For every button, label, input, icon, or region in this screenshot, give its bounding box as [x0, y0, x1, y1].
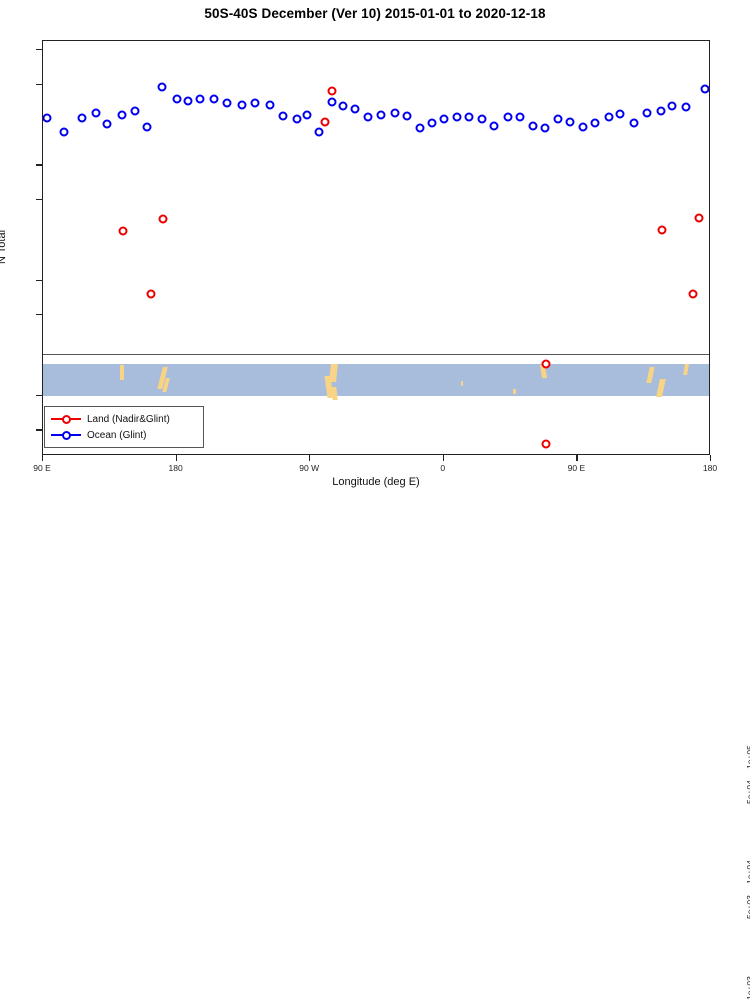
y-tick-label: 5e+01	[745, 429, 750, 1000]
data-point-ocean	[629, 118, 638, 127]
data-point-ocean	[251, 99, 260, 108]
y-tick-mark	[36, 395, 42, 396]
data-point-ocean	[579, 123, 588, 132]
data-point-ocean	[478, 115, 487, 124]
y-tick-mark	[36, 280, 42, 281]
data-point-ocean	[439, 115, 448, 124]
map-landmass	[461, 381, 463, 385]
data-point-ocean	[117, 110, 126, 119]
data-point-ocean	[350, 104, 359, 113]
data-point-ocean	[528, 121, 537, 130]
y-tick-mark	[36, 164, 42, 165]
data-point-land	[321, 117, 330, 126]
data-point-ocean	[92, 108, 101, 117]
x-tick-mark	[576, 455, 577, 461]
data-point-ocean	[390, 108, 399, 117]
data-point-ocean	[102, 119, 111, 128]
data-point-ocean	[681, 103, 690, 112]
data-point-land	[542, 359, 551, 368]
data-point-ocean	[565, 117, 574, 126]
data-point-ocean	[157, 82, 166, 91]
data-point-ocean	[591, 118, 600, 127]
data-point-ocean	[604, 112, 613, 121]
data-point-ocean	[184, 96, 193, 105]
data-point-ocean	[209, 95, 218, 104]
data-point-ocean	[279, 111, 288, 120]
data-point-ocean	[427, 118, 436, 127]
legend-swatch-land	[51, 413, 81, 425]
data-point-ocean	[701, 84, 709, 93]
data-point-ocean	[292, 115, 301, 124]
x-tick-label: 90 W	[299, 463, 319, 473]
x-tick-label: 180	[703, 463, 717, 473]
data-point-ocean	[266, 100, 275, 109]
chart-canvas: 50S-40S December (Ver 10) 2015-01-01 to …	[0, 0, 750, 500]
x-tick-label: 90 E	[568, 463, 586, 473]
data-point-ocean	[616, 109, 625, 118]
data-point-ocean	[303, 110, 312, 119]
data-point-ocean	[328, 97, 337, 106]
data-point-ocean	[43, 114, 52, 123]
data-point-ocean	[237, 100, 246, 109]
x-tick-mark	[42, 455, 43, 461]
data-point-ocean	[142, 123, 151, 132]
data-point-ocean	[416, 124, 425, 133]
data-point-ocean	[515, 112, 524, 121]
data-point-ocean	[453, 112, 462, 121]
map-landmass	[513, 389, 516, 395]
x-tick-mark	[176, 455, 177, 461]
chart-title: 50S-40S December (Ver 10) 2015-01-01 to …	[0, 6, 750, 21]
x-tick-label: 0	[440, 463, 445, 473]
legend-item-land: Land (Nadir&Glint)	[51, 411, 197, 427]
data-point-land	[119, 226, 128, 235]
x-tick-mark	[309, 455, 310, 461]
map-landmass	[331, 387, 337, 400]
legend-swatch-ocean	[51, 429, 81, 441]
data-point-ocean	[338, 102, 347, 111]
data-point-land	[658, 225, 667, 234]
data-point-land	[689, 289, 698, 298]
y-tick-mark	[36, 199, 42, 200]
data-point-ocean	[131, 107, 140, 116]
x-tick-label: 180	[169, 463, 183, 473]
legend-item-ocean: Ocean (Glint)	[51, 427, 197, 443]
y-axis-title: N Total	[0, 230, 8, 264]
map-inset-separator	[43, 354, 709, 356]
y-tick-mark	[36, 84, 42, 85]
data-point-ocean	[196, 95, 205, 104]
data-point-ocean	[643, 108, 652, 117]
legend-label-ocean: Ocean (Glint)	[87, 430, 146, 441]
legend-marker	[62, 415, 71, 424]
data-point-ocean	[540, 124, 549, 133]
data-point-ocean	[402, 111, 411, 120]
data-point-land	[159, 214, 168, 223]
data-point-ocean	[223, 99, 232, 108]
y-tick-mark	[36, 314, 42, 315]
data-point-ocean	[668, 102, 677, 111]
data-point-land	[147, 290, 156, 299]
y-tick-mark	[36, 49, 42, 50]
x-tick-mark	[710, 455, 711, 461]
data-point-land	[328, 87, 337, 96]
data-point-ocean	[503, 112, 512, 121]
data-point-ocean	[656, 107, 665, 116]
data-point-land	[542, 440, 551, 449]
y-tick-mark	[36, 429, 42, 430]
data-point-ocean	[465, 112, 474, 121]
plot-area	[43, 41, 709, 454]
data-point-ocean	[377, 110, 386, 119]
data-point-ocean	[59, 127, 68, 136]
x-tick-mark	[443, 455, 444, 461]
x-axis-title: Longitude (deg E)	[42, 476, 710, 488]
legend-marker	[62, 431, 71, 440]
data-point-land	[695, 213, 704, 222]
data-point-ocean	[490, 121, 499, 130]
map-inset-strip	[43, 364, 709, 396]
plot-frame	[42, 40, 710, 455]
data-point-ocean	[554, 115, 563, 124]
legend-label-land: Land (Nadir&Glint)	[87, 414, 170, 425]
map-landmass	[120, 365, 124, 379]
legend: Land (Nadir&Glint) Ocean (Glint)	[44, 406, 204, 448]
data-point-ocean	[364, 112, 373, 121]
data-point-ocean	[172, 95, 181, 104]
data-point-ocean	[315, 127, 324, 136]
x-tick-label: 90 E	[33, 463, 51, 473]
data-point-ocean	[77, 114, 86, 123]
